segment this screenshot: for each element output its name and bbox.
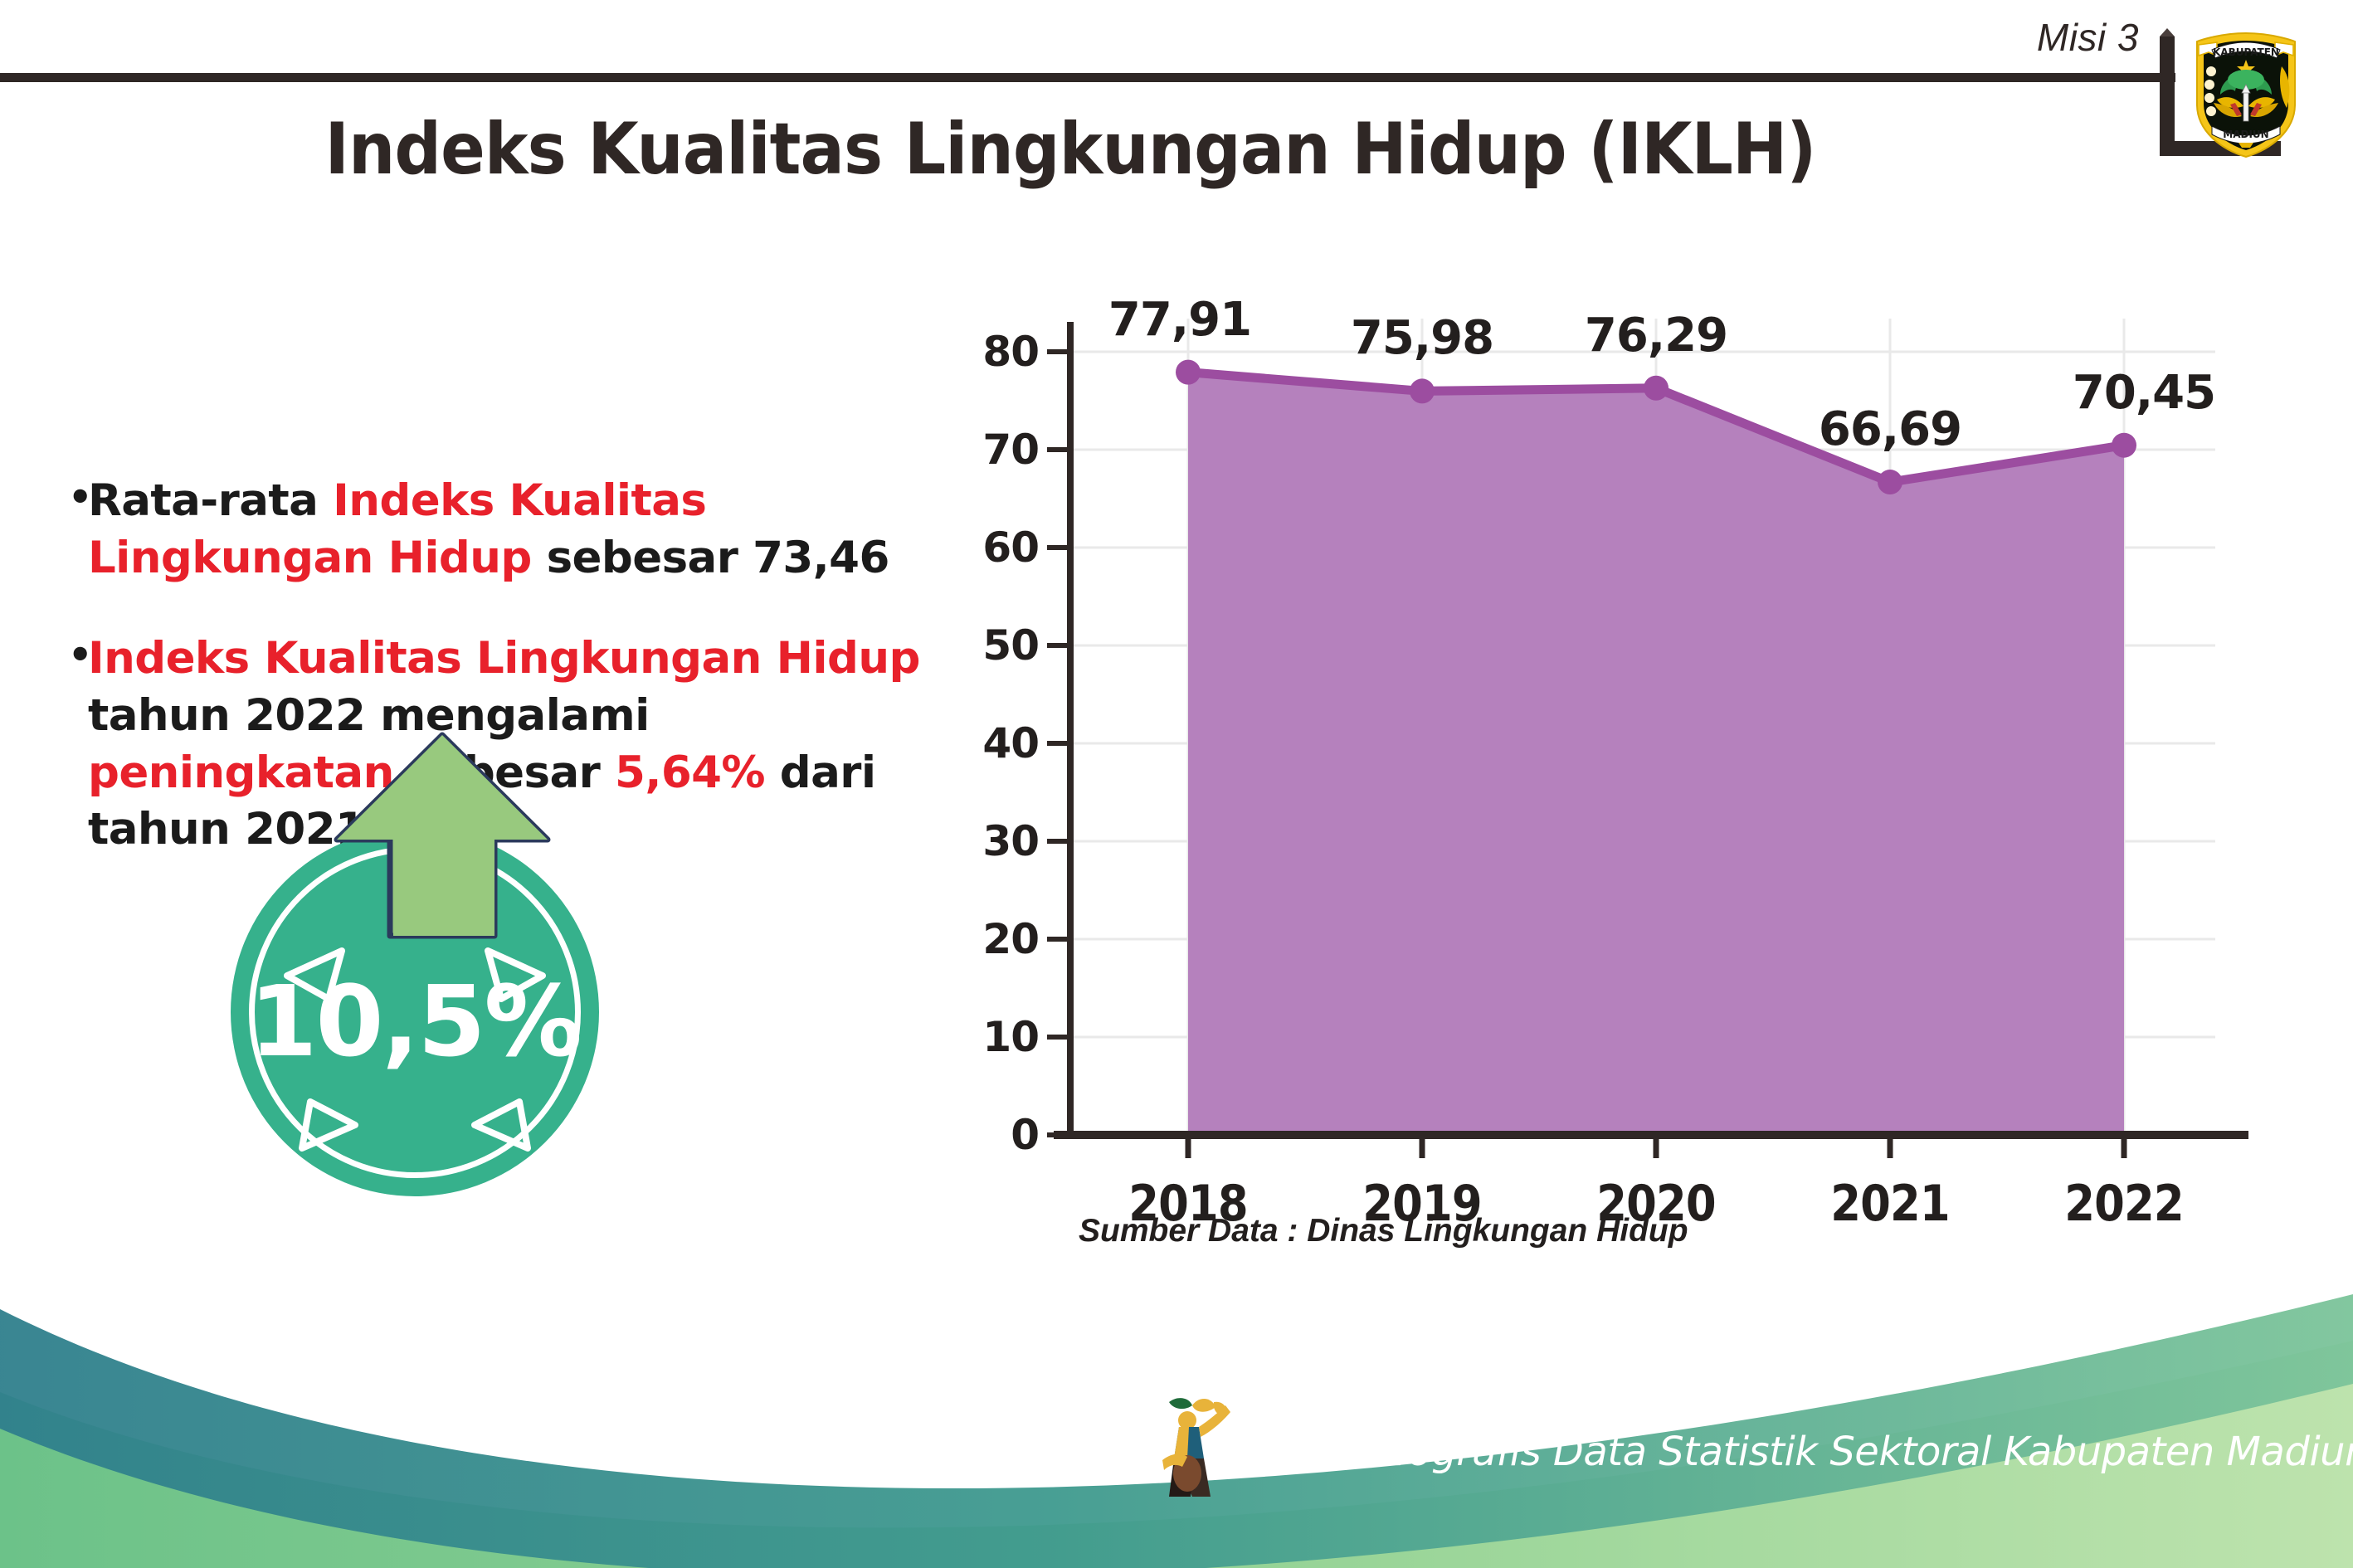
plain-text: Rata-rata (88, 475, 333, 526)
data-point-label: 66,69 (1782, 402, 1998, 456)
bullet-text: Rata-rata Indeks Kualitas Lingkungan Hid… (88, 473, 939, 587)
highlighted-text: Indeks Kualitas Lingkungan Hidup (88, 633, 920, 684)
svg-text:MADIUN: MADIUN (2223, 129, 2268, 140)
data-point-marker (2112, 433, 2136, 458)
y-axis-label: 10 (959, 1013, 1039, 1061)
y-axis-label: 20 (959, 915, 1039, 963)
y-axis-label: 30 (959, 817, 1039, 865)
x-axis-label: 2022 (2040, 1175, 2208, 1233)
data-point-label: 75,98 (1314, 311, 1530, 365)
arrow-up-icon (330, 730, 554, 979)
bracket-bevel (2160, 28, 2175, 37)
data-point-marker (1176, 360, 1201, 385)
x-axis-label: 2021 (1806, 1175, 1974, 1233)
iklh-area-chart: 01020304050607080 20182019202020212022 7… (971, 299, 2265, 1294)
chart-y-ticks (1047, 352, 1070, 1135)
data-point-label: 76,29 (1548, 309, 1764, 363)
madiun-regency-crest-icon: KABUPATEN MADIUN (2184, 28, 2308, 161)
data-point-marker (1410, 378, 1435, 403)
plain-text: sebesar 73,46 (532, 533, 889, 583)
mission-label: Misi 3 (2037, 15, 2139, 60)
y-axis-label: 0 (959, 1111, 1039, 1159)
data-point-marker (1644, 376, 1669, 401)
page-title: Indeks Kualitas Lingkungan Hidup (IKLH) (85, 108, 2055, 191)
header-rule (0, 73, 2175, 82)
y-axis-label: 50 (959, 621, 1039, 670)
y-axis-label: 40 (959, 719, 1039, 767)
y-axis-label: 60 (959, 523, 1039, 572)
data-point-label: 77,91 (1072, 293, 1288, 347)
footer-banner: Media Infografis Data Statistik Sektoral… (0, 1294, 2353, 1568)
list-item: • Rata-rata Indeks Kualitas Lingkungan H… (68, 473, 939, 587)
chart-source-note: Sumber Data : Dinas Lingkungan Hidup (1079, 1213, 1688, 1249)
bullet-dot-icon: • (68, 473, 88, 523)
svg-text:KABUPATEN: KABUPATEN (2213, 46, 2279, 58)
data-point-marker (1878, 470, 1902, 494)
chart-area-fill (1188, 373, 2124, 1135)
footer-caption: Media Infografis Data Statistik Sektoral… (1228, 1429, 2353, 1475)
dancer-mascot-icon (1149, 1387, 1240, 1503)
bullet-dot-icon: • (68, 631, 88, 680)
y-axis-label: 80 (959, 328, 1039, 376)
increase-badge: 10,5% (214, 730, 679, 1195)
y-axis-label: 70 (959, 426, 1039, 474)
data-point-label: 70,45 (2036, 366, 2252, 420)
bracket-vertical-bar (2160, 37, 2175, 156)
badge-value: 10,5% (231, 964, 599, 1079)
